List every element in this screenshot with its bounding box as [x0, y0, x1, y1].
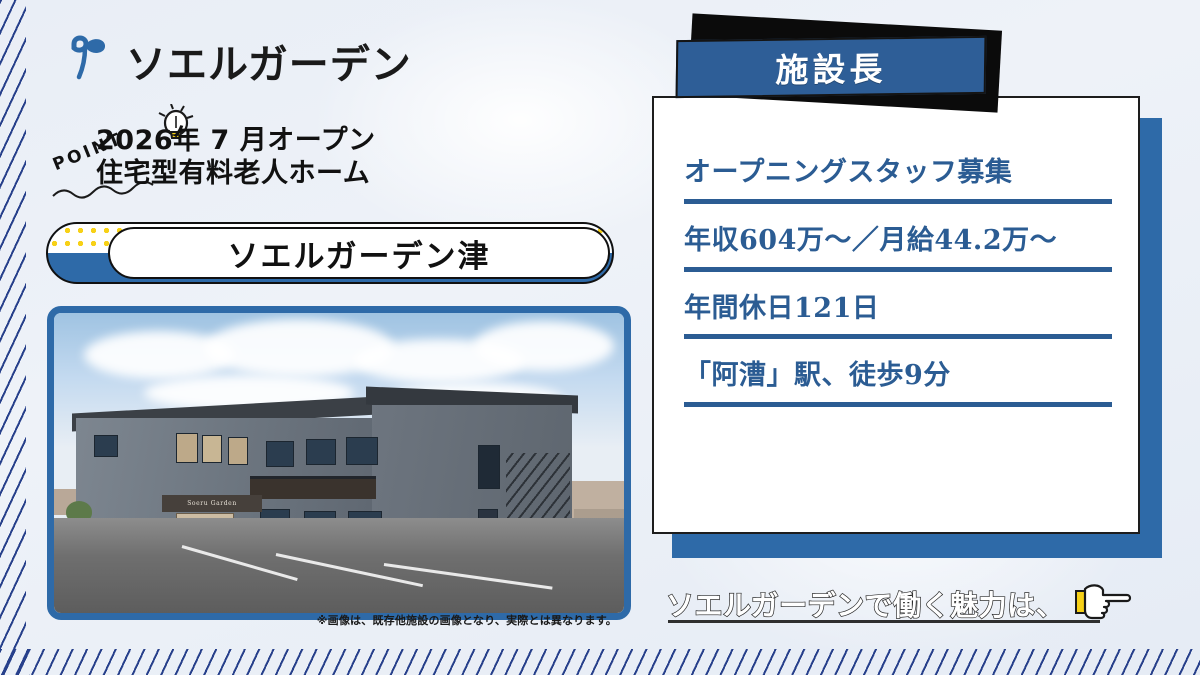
- ad-canvas: ソエルガーデン POINT 2026年 7 月オープン 住宅型有料老人ホーム: [0, 0, 1200, 675]
- job-highlight-item: 年収604万～／月給44.2万～: [684, 224, 1112, 272]
- photo-image: Soeru Garden: [54, 313, 624, 613]
- info-panel: オープニングスタッフ募集 年収604万～／月給44.2万～ 年間休日121日 「…: [652, 96, 1140, 534]
- point-headline-line1: 2026年 7 月オープン: [96, 125, 376, 158]
- footer-tagline: ソエルガーデンで働く魅力は、: [666, 584, 1064, 624]
- job-title-banner: 施設長: [676, 36, 987, 98]
- facility-photo: Soeru Garden: [47, 306, 631, 620]
- facility-name: ソエルガーデン津: [227, 231, 490, 276]
- photo-disclaimer: ※画像は、既存他施設の画像となり、実際とは異なります。: [47, 612, 617, 628]
- bottom-hatch-border: [0, 649, 1200, 675]
- point-headline-line2: 住宅型有料老人ホーム: [96, 158, 376, 191]
- badge-plate: ソエルガーデン津: [108, 227, 610, 279]
- photo-building-sign: Soeru Garden: [162, 495, 262, 512]
- sprout-leaf-icon: [62, 30, 118, 91]
- highlight-rule: [684, 334, 1112, 339]
- job-highlight-list: オープニングスタッフ募集 年収604万～／月給44.2万～ 年間休日121日 「…: [684, 156, 1112, 427]
- highlight-rule: [684, 402, 1112, 407]
- job-title: 施設長: [775, 42, 887, 92]
- photo-balcony: [250, 476, 376, 499]
- job-highlight-item: 年間休日121日: [684, 292, 1112, 340]
- brand-logo: ソエルガーデン: [62, 30, 412, 91]
- photo-building-sign-text: Soeru Garden: [187, 500, 237, 507]
- facility-name-badge: ソエルガーデン津: [46, 222, 614, 284]
- point-headline: 2026年 7 月オープン 住宅型有料老人ホーム: [96, 125, 376, 191]
- brand-name: ソエルガーデン: [126, 32, 412, 90]
- highlight-rule: [684, 199, 1112, 204]
- job-highlight-item: オープニングスタッフ募集: [684, 156, 1112, 204]
- job-highlight-item: 「阿漕」駅、徒歩9分: [684, 359, 1112, 407]
- footer-tagline-underline: [668, 620, 1100, 623]
- highlight-rule: [684, 267, 1112, 272]
